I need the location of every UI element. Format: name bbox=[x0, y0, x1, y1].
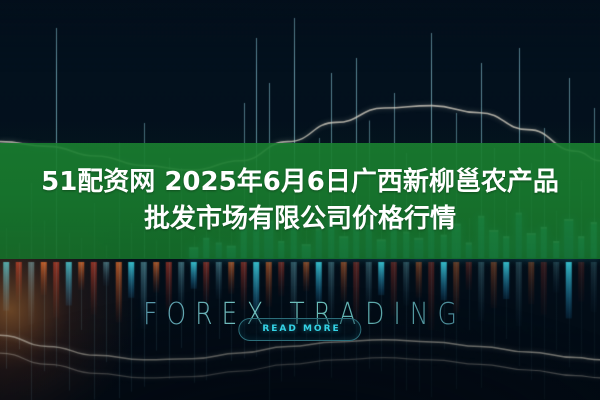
read-more-button[interactable]: READ MORE bbox=[238, 318, 361, 341]
green-title-banner: 51配资网 2025年6月6日广西新柳邕农产品批发市场有限公司价格行情 bbox=[0, 143, 600, 259]
page-title: 51配资网 2025年6月6日广西新柳邕农产品批发市场有限公司价格行情 bbox=[35, 164, 565, 238]
forex-banner-image: FOREX TRADING READ MORE 51配资网 2025年6月6日广… bbox=[0, 0, 600, 400]
